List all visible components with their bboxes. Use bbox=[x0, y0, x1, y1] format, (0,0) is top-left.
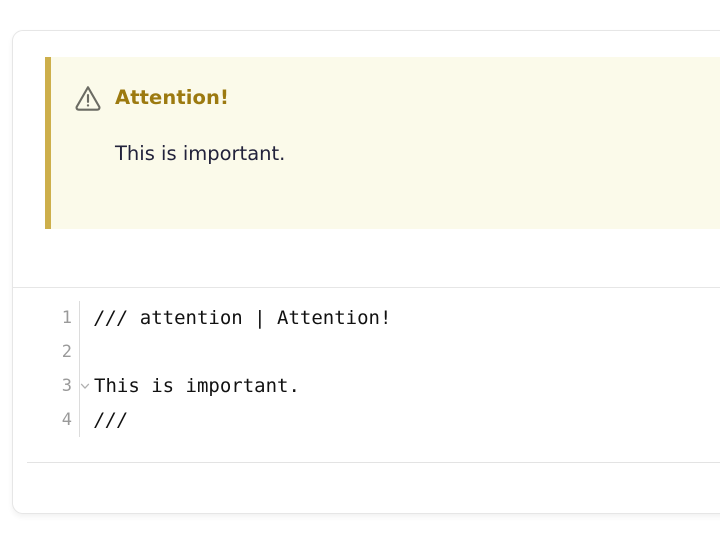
line-gutter[interactable]: 3 bbox=[13, 369, 80, 403]
code-line-row[interactable]: 4 /// bbox=[13, 403, 720, 437]
screen-root: Attention! This is important. 1 /// atte… bbox=[0, 0, 720, 544]
rendered-preview-pane: Attention! This is important. bbox=[13, 31, 720, 288]
admonition-header: Attention! bbox=[73, 83, 720, 113]
code-line-row[interactable]: 3 This is important. bbox=[13, 369, 720, 403]
admonition-body-text: This is important. bbox=[115, 141, 720, 167]
code-line-row[interactable]: 2 bbox=[13, 335, 720, 369]
code-line-list: 1 /// attention | Attention! 2 3 bbox=[13, 289, 720, 437]
code-token-text: This is important. bbox=[94, 377, 300, 396]
line-gutter[interactable]: 4 bbox=[13, 403, 80, 437]
code-token-marker: /// bbox=[94, 309, 128, 328]
admonition-attention: Attention! This is important. bbox=[45, 57, 720, 229]
code-line-content[interactable] bbox=[80, 335, 720, 369]
card-footer-area bbox=[13, 463, 720, 513]
code-token-marker: /// bbox=[94, 411, 128, 430]
warning-triangle-icon bbox=[73, 83, 103, 113]
code-line-content[interactable]: /// bbox=[80, 403, 720, 437]
line-number: 2 bbox=[62, 344, 72, 361]
code-line-content[interactable]: This is important. bbox=[80, 369, 720, 403]
line-gutter[interactable]: 2 bbox=[13, 335, 80, 369]
line-number: 1 bbox=[62, 310, 72, 327]
line-number: 4 bbox=[62, 412, 72, 429]
chevron-down-icon[interactable] bbox=[79, 380, 91, 392]
admonition-title: Attention! bbox=[115, 88, 229, 108]
code-line-row[interactable]: 1 /// attention | Attention! bbox=[13, 301, 720, 335]
preview-card: Attention! This is important. 1 /// atte… bbox=[12, 30, 720, 514]
code-token-text: attention | Attention! bbox=[128, 309, 391, 328]
line-gutter[interactable]: 1 bbox=[13, 301, 80, 335]
code-editor-pane[interactable]: 1 /// attention | Attention! 2 3 bbox=[13, 289, 720, 463]
line-number: 3 bbox=[62, 378, 72, 395]
code-line-content[interactable]: /// attention | Attention! bbox=[80, 301, 720, 335]
